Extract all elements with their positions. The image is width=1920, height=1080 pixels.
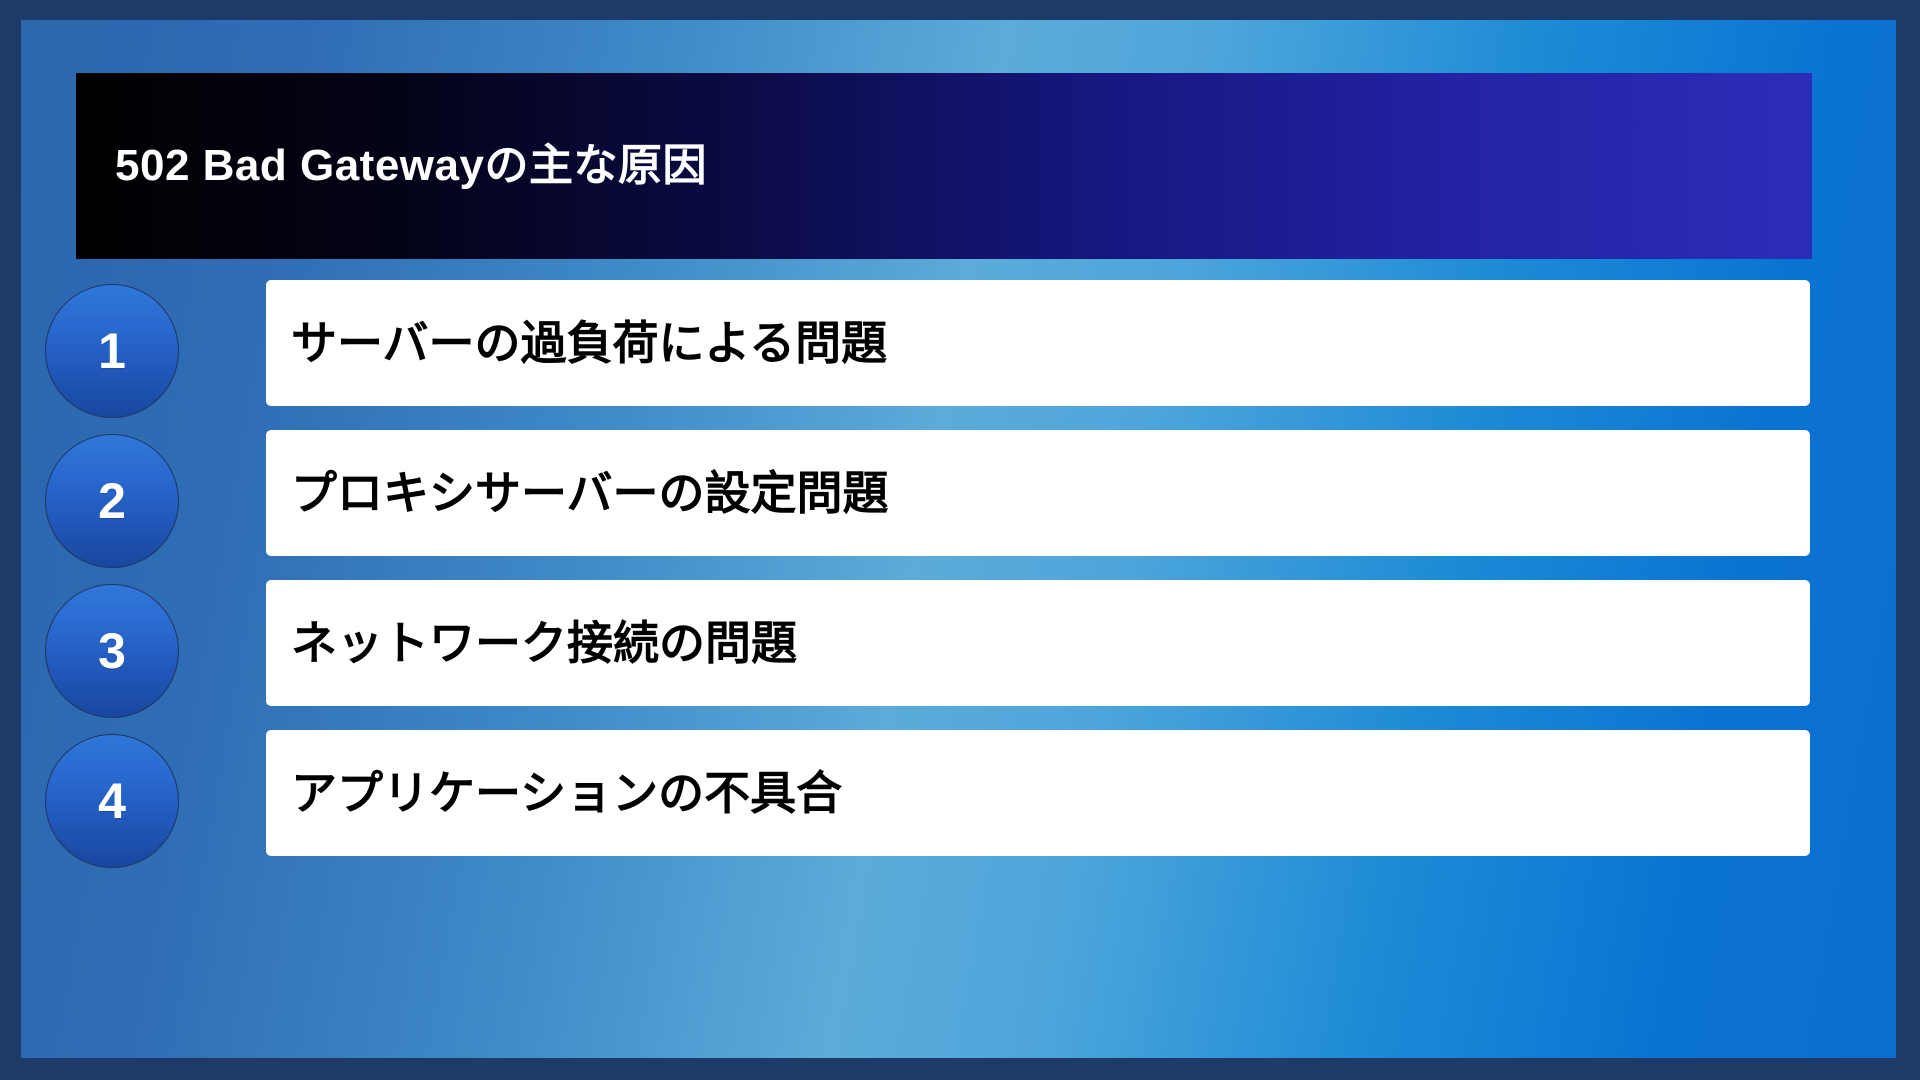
list-item-card[interactable]: サーバーの過負荷による問題	[266, 280, 1810, 406]
list-item-card[interactable]: アプリケーションの不具合	[266, 730, 1810, 856]
list-item-number: 3	[98, 626, 126, 676]
list-item-number-badge: 3	[45, 584, 179, 718]
page-title: 502 Bad Gatewayの主な原因	[115, 144, 707, 188]
list-item-label: ネットワーク接続の問題	[291, 620, 797, 666]
list-item: 2 プロキシサーバーの設定問題	[0, 430, 1875, 572]
list-item-number: 4	[98, 776, 126, 826]
list-item-label: プロキシサーバーの設定問題	[291, 470, 889, 516]
list-item-number-badge: 2	[45, 434, 179, 568]
list-item-label: アプリケーションの不具合	[291, 770, 842, 816]
list-item-number-badge: 1	[45, 284, 179, 418]
list-item-label: サーバーの過負荷による問題	[291, 320, 887, 366]
list-item: 3 ネットワーク接続の問題	[0, 580, 1875, 722]
list-item-number-badge: 4	[45, 734, 179, 868]
list-item-number: 1	[98, 326, 126, 376]
list-item-card[interactable]: ネットワーク接続の問題	[266, 580, 1810, 706]
list-item: 4 アプリケーションの不具合	[0, 730, 1875, 872]
list-item-number: 2	[98, 476, 126, 526]
list-item: 1 サーバーの過負荷による問題	[0, 280, 1875, 422]
list-item-card[interactable]: プロキシサーバーの設定問題	[266, 430, 1810, 556]
slide-root: 502 Bad Gatewayの主な原因 1 サーバーの過負荷による問題 2 プ…	[0, 0, 1920, 1080]
slide-title-bar: 502 Bad Gatewayの主な原因	[76, 73, 1812, 259]
cause-list: 1 サーバーの過負荷による問題 2 プロキシサーバーの設定問題 3 ネットワーク…	[0, 280, 1875, 880]
